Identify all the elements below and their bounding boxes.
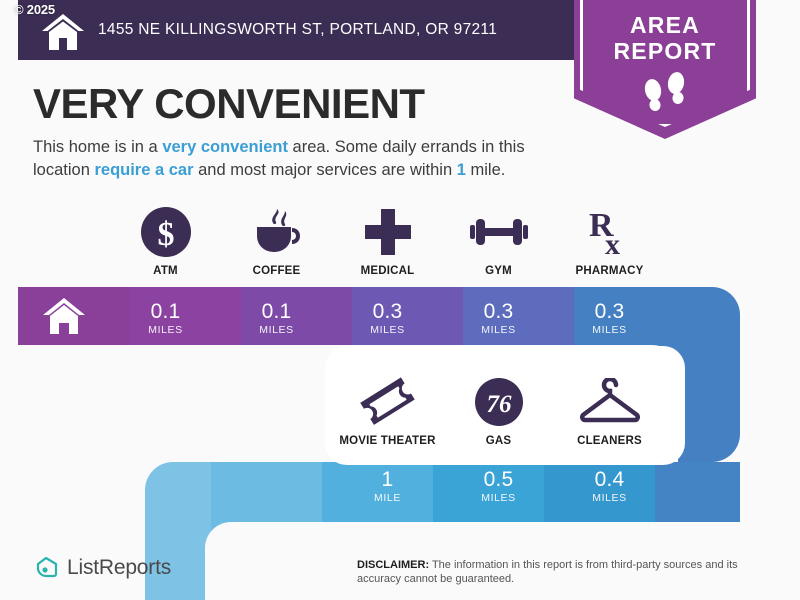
category-icon-row-secondary: MOVIE THEATER 76 GAS CLEANERS <box>332 374 665 447</box>
copyright-watermark: © 2025 <box>14 2 55 17</box>
house-icon <box>42 296 86 336</box>
home-marker <box>18 287 110 345</box>
badge-title-line1: AREA <box>574 12 756 38</box>
category-medical: MEDICAL <box>332 204 443 277</box>
intro-part1: This home is in a <box>33 138 162 156</box>
distance-value: 0.1 <box>110 300 221 323</box>
intro-highlight2: require a car <box>94 161 193 179</box>
dollar-circle-icon: $ <box>110 204 221 260</box>
footprints-icon <box>574 70 756 114</box>
distance-value: 0.3 <box>332 300 443 323</box>
category-coffee: COFFEE <box>221 204 332 277</box>
distance-value: 0.5 <box>443 468 554 491</box>
category-label: GAS <box>443 435 554 447</box>
svg-text:x: x <box>605 228 620 258</box>
category-label: GYM <box>443 265 554 277</box>
svg-text:$: $ <box>157 216 174 253</box>
intro-part3: and most major services are within <box>194 161 457 179</box>
rx-icon: R x <box>554 204 665 260</box>
distance-value: 0.4 <box>554 468 665 491</box>
listreports-logo-text: ListReports <box>67 556 171 580</box>
distance-unit: MILES <box>554 492 665 504</box>
distance-cell-gas: 0.5 MILES <box>443 468 554 504</box>
category-label: MEDICAL <box>332 265 443 277</box>
distance-cell-movie-theater: 1 MILE <box>332 468 443 504</box>
intro-highlight3: 1 <box>457 161 466 179</box>
header-bar: 1455 NE KILLINGSWORTH ST, PORTLAND, OR 9… <box>18 0 586 60</box>
distance-value: 0.3 <box>554 300 665 323</box>
page-title: VERY CONVENIENT <box>33 80 425 128</box>
distance-unit: MILES <box>443 492 554 504</box>
distance-row-primary: 0.1 MILES 0.1 MILES 0.3 MILES 0.3 MILES … <box>110 300 665 336</box>
intro-paragraph: This home is in a very convenient area. … <box>33 136 568 182</box>
area-report-page: 1455 NE KILLINGSWORTH ST, PORTLAND, OR 9… <box>0 0 800 600</box>
listreports-logo: ListReports <box>33 555 171 581</box>
distance-cell-pharmacy: 0.3 MILES <box>554 300 665 336</box>
listreports-pin-icon <box>33 555 59 581</box>
distance-unit: MILES <box>221 324 332 336</box>
category-cleaners: CLEANERS <box>554 374 665 447</box>
distance-row-secondary: 1 MILE 0.5 MILES 0.4 MILES <box>332 468 665 504</box>
movie-ticket-icon <box>332 374 443 430</box>
disclaimer-label: DISCLAIMER: <box>357 559 429 571</box>
distance-value: 0.1 <box>221 300 332 323</box>
distance-cell-gym: 0.3 MILES <box>443 300 554 336</box>
distance-unit: MILES <box>332 324 443 336</box>
category-movie-theater: MOVIE THEATER <box>332 374 443 447</box>
distance-unit: MILES <box>110 324 221 336</box>
category-gym: GYM <box>443 204 554 277</box>
category-icon-row-primary: $ ATM COFFEE MEDICAL <box>110 204 665 277</box>
medical-cross-icon <box>332 204 443 260</box>
intro-highlight1: very convenient <box>162 138 288 156</box>
category-label: ATM <box>110 265 221 277</box>
gas-76-icon: 76 <box>443 374 554 430</box>
dumbbell-icon <box>443 204 554 260</box>
distance-value: 1 <box>332 468 443 491</box>
badge-title: AREA REPORT <box>574 12 756 64</box>
category-pharmacy: R x PHARMACY <box>554 204 665 277</box>
distance-cell-atm: 0.1 MILES <box>110 300 221 336</box>
distance-cell-cleaners: 0.4 MILES <box>554 468 665 504</box>
category-label: CLEANERS <box>554 435 665 447</box>
clothes-hanger-icon <box>554 374 665 430</box>
category-label: MOVIE THEATER <box>332 435 443 447</box>
distance-unit: MILE <box>332 492 443 504</box>
badge-title-line2: REPORT <box>574 38 756 64</box>
distance-unit: MILES <box>554 324 665 336</box>
distance-unit: MILES <box>443 324 554 336</box>
coffee-cup-icon <box>221 204 332 260</box>
distance-cell-coffee: 0.1 MILES <box>221 300 332 336</box>
category-label: PHARMACY <box>554 265 665 277</box>
disclaimer: DISCLAIMER: The information in this repo… <box>357 558 777 586</box>
svg-text:76: 76 <box>486 391 512 418</box>
property-address: 1455 NE KILLINGSWORTH ST, PORTLAND, OR 9… <box>98 0 497 60</box>
category-atm: $ ATM <box>110 204 221 277</box>
distance-value: 0.3 <box>443 300 554 323</box>
intro-part4: mile. <box>466 161 505 179</box>
category-label: COFFEE <box>221 265 332 277</box>
category-gas: 76 GAS <box>443 374 554 447</box>
distance-cell-medical: 0.3 MILES <box>332 300 443 336</box>
